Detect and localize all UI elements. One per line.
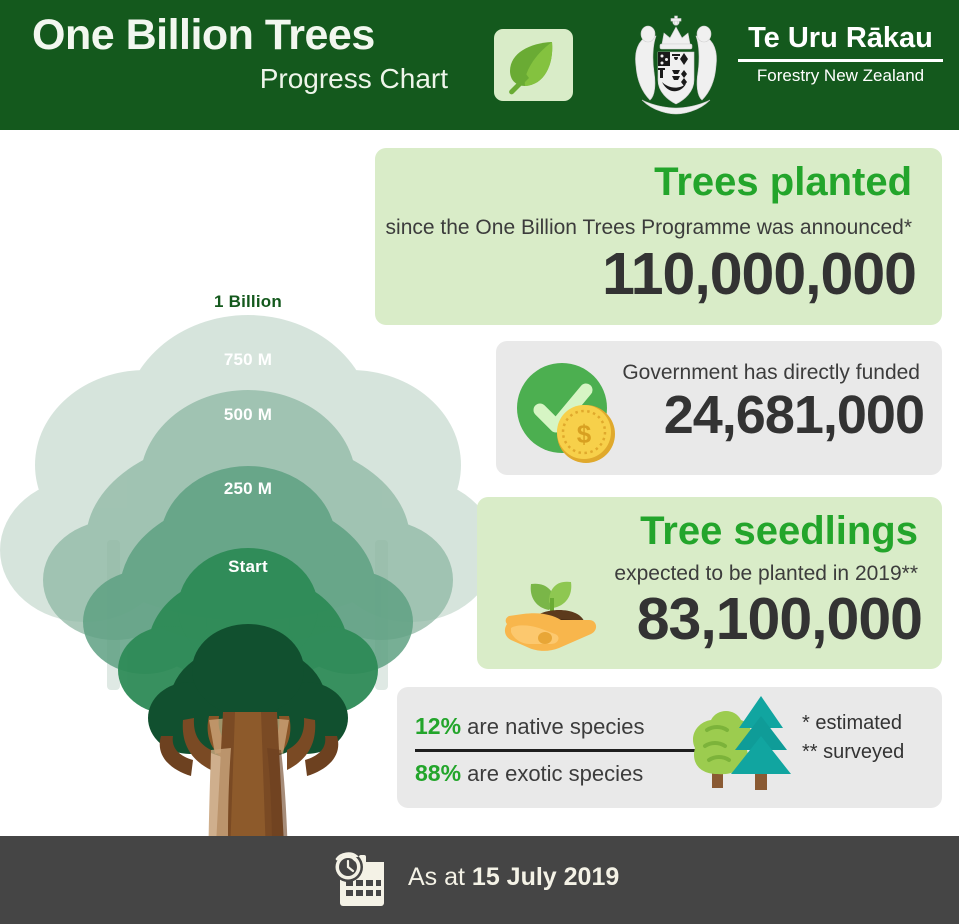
exotic-species-text: are exotic species	[467, 761, 643, 786]
leaf-badge	[494, 29, 573, 101]
hand-seedling-icon	[493, 552, 605, 657]
milestone-label-500m: 500 M	[148, 405, 348, 425]
government-funded-lead: Government has directly funded	[622, 361, 920, 384]
species-divider	[415, 749, 705, 752]
native-species-row: 12% are native species	[415, 713, 645, 740]
note-surveyed: ** surveyed	[802, 738, 904, 767]
tree-seedlings-lead: expected to be planted in 2019**	[614, 562, 918, 585]
milestone-label-250m: 250 M	[148, 479, 348, 499]
svg-text:$: $	[577, 419, 592, 449]
native-species-text: are native species	[467, 714, 644, 739]
page-title: One Billion Trees	[32, 14, 482, 57]
trees-planted-value: 110,000,000	[602, 245, 916, 304]
trees-planted-title: Trees planted	[654, 162, 912, 202]
brand-name: Te Uru Rākau	[738, 23, 943, 53]
brand-subtitle: Forestry New Zealand	[738, 67, 943, 86]
species-split-card: 12% are native species 88% are exotic sp…	[397, 687, 942, 808]
page-subtitle: Progress Chart	[32, 65, 448, 93]
native-species-pct: 12%	[415, 713, 461, 739]
title-block: One Billion Trees Progress Chart	[32, 14, 482, 93]
check-coin-icon: $	[510, 360, 635, 465]
government-funded-value: 24,681,000	[664, 388, 924, 442]
species-notes: * estimated ** surveyed	[802, 709, 904, 767]
milestone-label-750m: 750 M	[148, 350, 348, 370]
infographic-page: One Billion Trees Progress Chart	[0, 0, 959, 924]
exotic-species-pct: 88%	[415, 760, 461, 786]
tree-progress-chart: 1 Billion 750 M 500 M 250 M Start	[0, 130, 375, 820]
exotic-species-row: 88% are exotic species	[415, 760, 643, 787]
milestone-label-1-billion: 1 Billion	[148, 292, 348, 312]
note-estimated: * estimated	[802, 709, 904, 738]
tree-seedlings-title: Tree seedlings	[640, 511, 918, 551]
as-at-date: As at 15 July 2019	[408, 862, 619, 892]
tree-seedlings-value: 83,100,000	[637, 590, 922, 649]
trees-planted-lead: since the One Billion Trees Programme wa…	[386, 216, 912, 239]
trees-planted-card: Trees planted since the One Billion Tree…	[375, 148, 942, 325]
milestone-label-start: Start	[148, 557, 348, 577]
page-footer: As at 15 July 2019	[0, 836, 959, 924]
as-at-prefix: As at	[408, 863, 472, 891]
as-at-value: 15 July 2019	[472, 863, 619, 891]
nz-coat-of-arms-icon	[622, 14, 730, 118]
page-header: One Billion Trees Progress Chart	[0, 0, 959, 130]
clock-calendar-icon	[328, 850, 392, 910]
brand-block: Te Uru Rākau Forestry New Zealand	[738, 23, 943, 86]
tree-seedlings-card: Tree seedlings expected to be planted in…	[477, 497, 942, 669]
government-funded-card: $ Government has directly funded 24,681,…	[496, 341, 942, 475]
leaf-icon	[494, 29, 573, 101]
two-trees-icon	[685, 694, 797, 790]
brand-divider	[738, 59, 943, 62]
